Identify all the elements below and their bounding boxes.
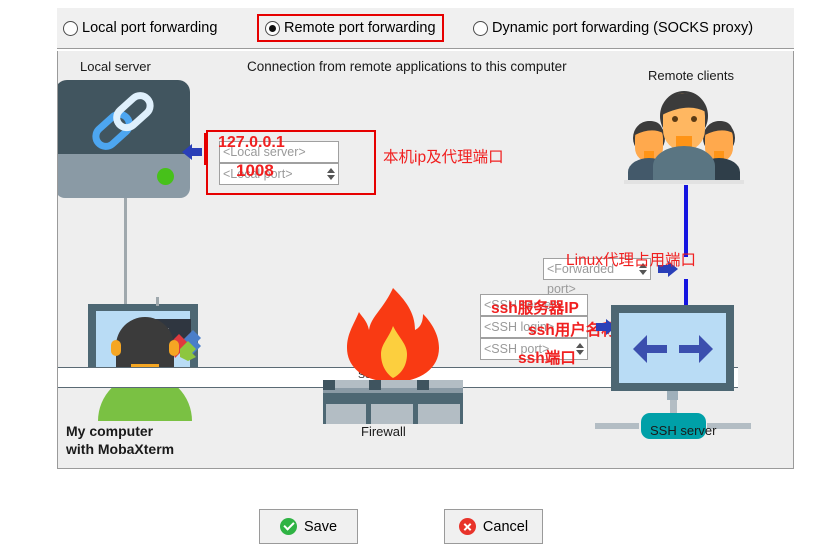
spinner-down-icon[interactable] <box>327 175 335 180</box>
spinner-up-icon[interactable] <box>576 343 584 348</box>
chain-link-icon <box>88 92 158 150</box>
label-local-server: Local server <box>80 59 151 74</box>
forwarding-diagram-panel: Connection from remote applications to t… <box>57 51 794 469</box>
radio-local-dot[interactable] <box>63 21 78 36</box>
spinner-down-icon[interactable] <box>576 350 584 355</box>
radio-local-port-forwarding[interactable]: Local port forwarding <box>57 17 223 39</box>
my-computer-icon: >_ <box>57 304 198 421</box>
radio-local-label: Local port forwarding <box>82 20 217 36</box>
annotation-forwarded-caption: Linux代理占用端口 <box>566 248 696 270</box>
wire-remote-clients-to-forwarded-port <box>684 185 688 257</box>
annotation-local-ip: 127.0.0.1 <box>218 134 285 152</box>
bidirectional-arrows-icon <box>633 331 713 367</box>
arrow-left-to-local-fields <box>182 144 202 160</box>
wire-local-server-to-computer <box>124 198 127 305</box>
label-my-computer-line2: with MobaXterm <box>66 441 174 457</box>
local-port-spinner[interactable] <box>324 165 337 183</box>
wire-forwarded-port-to-ssh-server <box>684 279 688 306</box>
firewall-icon <box>323 284 463 424</box>
ssh-server-icon <box>611 305 746 435</box>
radio-remote-dot[interactable] <box>265 21 280 36</box>
cancel-button-label: Cancel <box>483 519 528 535</box>
radio-dynamic-dot[interactable] <box>473 21 488 36</box>
annotation-local-caption: 本机ip及代理端口 <box>383 145 504 167</box>
label-remote-clients: Remote clients <box>648 68 734 83</box>
radio-remote-port-forwarding[interactable]: Remote port forwarding <box>257 14 444 42</box>
diagram-caption: Connection from remote applications to t… <box>247 59 567 74</box>
remote-clients-icon <box>624 83 744 188</box>
radio-dynamic-label: Dynamic port forwarding (SOCKS proxy) <box>492 20 753 36</box>
radio-dynamic-port-forwarding[interactable]: Dynamic port forwarding (SOCKS proxy) <box>467 17 759 39</box>
label-firewall: Firewall <box>361 424 406 439</box>
spinner-up-icon[interactable] <box>327 168 335 173</box>
label-ssh-server: SSH server <box>650 423 716 438</box>
close-circle-icon <box>459 518 476 535</box>
spinner-down-icon[interactable] <box>639 270 647 275</box>
forwarding-mode-bar: Local port forwarding Remote port forwar… <box>57 8 794 49</box>
save-button-label: Save <box>304 519 337 535</box>
annotation-ssh-server-caption: ssh服务器IP <box>491 296 579 318</box>
dialog-button-row: Save Cancel <box>0 509 816 549</box>
annotation-local-port-number: 1008 <box>236 161 274 181</box>
local-server-icon <box>57 80 190 198</box>
save-button[interactable]: Save <box>259 509 358 544</box>
cancel-button[interactable]: Cancel <box>444 509 543 544</box>
radio-remote-label: Remote port forwarding <box>284 20 436 36</box>
wire-monitor-top <box>156 297 159 306</box>
check-circle-icon <box>280 518 297 535</box>
annotation-ssh-port-caption: ssh端口 <box>518 346 576 368</box>
label-my-computer-line1: My computer <box>66 423 153 439</box>
